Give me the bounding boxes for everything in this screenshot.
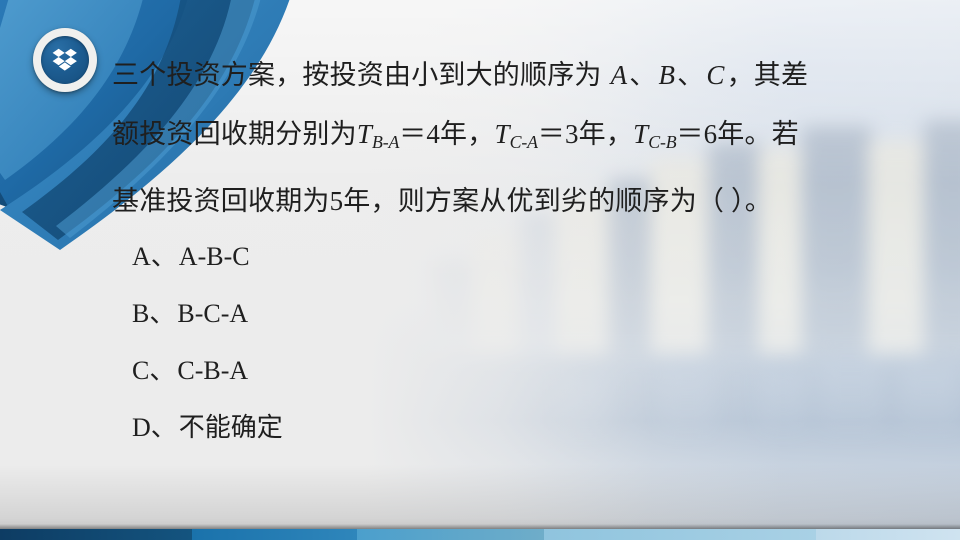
option-a[interactable]: A、A-B-C (132, 228, 652, 285)
symbol-t-ca-subscript: C-A (510, 132, 538, 152)
symbol-t-ba-base: T (357, 119, 372, 149)
footer-color-bar (0, 529, 960, 540)
footer-segment-1 (0, 529, 192, 540)
symbol-t-ca-base: T (494, 119, 509, 149)
question-line1-part1: 三个投资方案，按投资由小到大的顺序为 (112, 60, 609, 90)
option-b-separator: 、 (149, 299, 175, 328)
footer-segment-2 (192, 529, 357, 540)
option-c-key: C (132, 356, 149, 385)
question-line-3: 基准投资回收期为5年，则方案从优到劣的顺序为（ ）。 (112, 172, 940, 231)
option-b[interactable]: B、B-C-A (132, 285, 652, 342)
symbol-t-cb-value: ＝6年。若 (676, 119, 799, 149)
answer-options-list: A、A-B-C B、B-C-A C、C-B-A D、不能确定 (132, 228, 652, 456)
footer-segment-4 (544, 529, 816, 540)
variable-b: B (656, 60, 677, 90)
symbol-t-ca-value: ＝3年， (538, 119, 633, 149)
option-c-separator: 、 (149, 356, 175, 385)
option-c[interactable]: C、C-B-A (132, 342, 652, 399)
option-d-key: D (132, 413, 151, 442)
presentation-slide: 三个投资方案，按投资由小到大的顺序为 A、B、C，其差 额投资回收期分别为TB-… (0, 0, 960, 540)
question-line-1: 三个投资方案，按投资由小到大的顺序为 A、B、C，其差 (112, 46, 940, 105)
question-line-2: 额投资回收期分别为TB-A＝4年，TC-A＝3年，TC-B＝6年。若 (112, 105, 940, 172)
option-c-value: C-B-A (175, 356, 248, 385)
question-text: 三个投资方案，按投资由小到大的顺序为 A、B、C，其差 额投资回收期分别为TB-… (112, 46, 940, 231)
question-sep-2: 、 (677, 60, 704, 90)
question-sep-1: 、 (629, 60, 656, 90)
footer-segment-5 (816, 529, 960, 540)
question-line2-part1: 额投资回收期分别为 (112, 119, 357, 149)
option-a-separator: 、 (151, 242, 177, 271)
variable-c: C (704, 60, 726, 90)
slide-content: 三个投资方案，按投资由小到大的顺序为 A、B、C，其差 额投资回收期分别为TB-… (0, 0, 960, 540)
symbol-t-ba-subscript: B-A (372, 132, 399, 152)
symbol-t-cb-subscript: C-B (648, 132, 676, 152)
variable-a: A (609, 60, 630, 90)
symbol-t-ca: TC-A (494, 119, 537, 149)
question-line1-part2: ，其差 (727, 60, 809, 90)
option-d-value: 不能确定 (177, 413, 283, 442)
symbol-t-ba: TB-A (357, 119, 399, 149)
option-b-value: B-C-A (175, 299, 248, 328)
symbol-t-ba-value: ＝4年， (399, 119, 494, 149)
option-d[interactable]: D、不能确定 (132, 399, 652, 456)
option-d-separator: 、 (151, 413, 177, 442)
symbol-t-cb: TC-B (633, 119, 676, 149)
option-a-value: A-B-C (177, 242, 250, 271)
symbol-t-cb-base: T (633, 119, 648, 149)
option-b-key: B (132, 299, 149, 328)
footer-segment-3 (357, 529, 544, 540)
option-a-key: A (132, 242, 151, 271)
